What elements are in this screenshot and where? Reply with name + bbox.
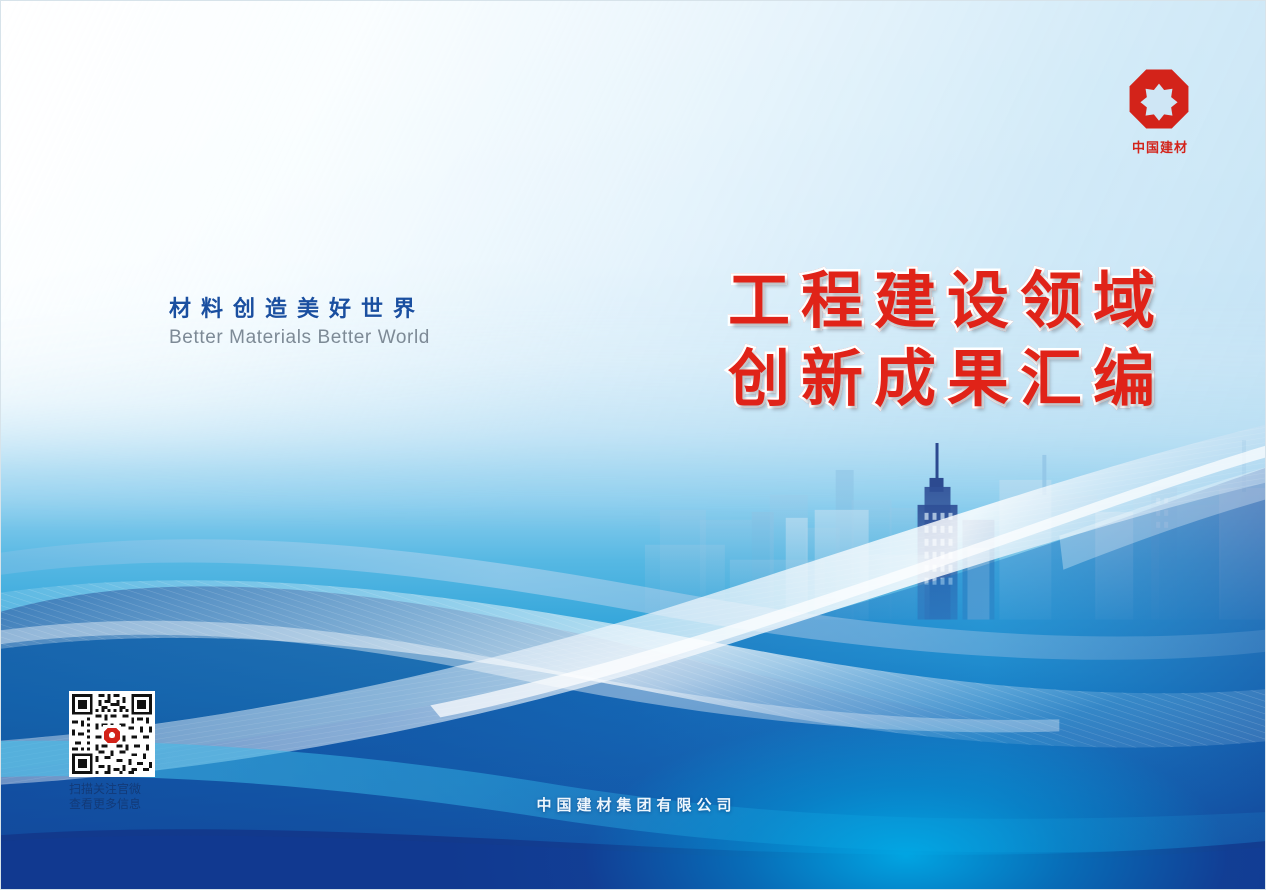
octagon-star-logo-icon: [1127, 67, 1191, 131]
title-line-2: 创新成果汇编: [728, 341, 1178, 419]
logo-text: 中国建材: [1127, 137, 1193, 156]
title-line-1: 工程建设领域: [728, 263, 1178, 341]
qr-code-icon[interactable]: [69, 691, 155, 777]
slogan-english: Better Materials Better World: [169, 327, 430, 349]
cover-title: 工程建设领域 创新成果汇编: [728, 263, 1178, 419]
cover-page: 中国建材 材料创造美好世界 Better Materials Better Wo…: [0, 0, 1266, 890]
company-logo: 中国建材: [1127, 67, 1193, 167]
slogan-chinese: 材料创造美好世界: [169, 291, 425, 323]
company-name-text: 中国建材集团有限公司: [531, 797, 736, 814]
bottom-cyan-glow: [1, 1, 1265, 889]
company-name: 中国建材集团有限公司: [1, 794, 1266, 815]
qr-code-matrix: [69, 691, 155, 777]
